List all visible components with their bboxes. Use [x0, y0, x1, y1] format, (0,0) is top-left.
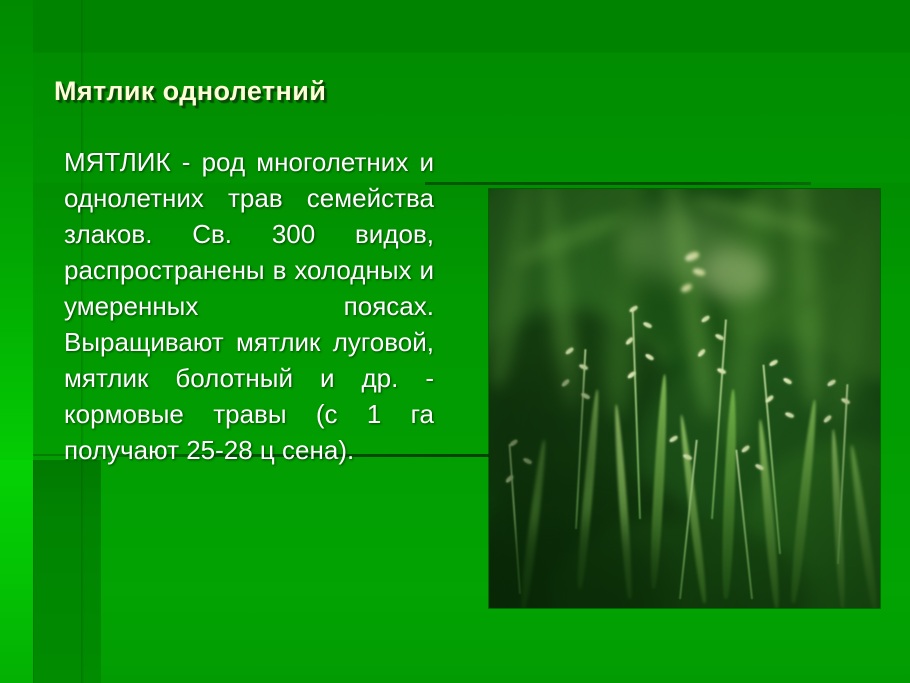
- photo-vignette: [489, 189, 880, 608]
- slide-title: Мятлик однолетний: [54, 76, 326, 107]
- accent-strip-lower: [0, 460, 33, 683]
- grass-photo-canvas: [489, 189, 880, 608]
- accent-strip-upper: [0, 0, 33, 460]
- horizontal-rule-upper: [425, 182, 811, 185]
- slide-body-text: МЯТЛИК - род многолетних и однолетних тр…: [64, 144, 434, 468]
- slide: Мятлик однолетний МЯТЛИК - род многолетн…: [0, 0, 910, 683]
- grass-photo: [489, 189, 880, 608]
- accent-step-block: [33, 460, 101, 683]
